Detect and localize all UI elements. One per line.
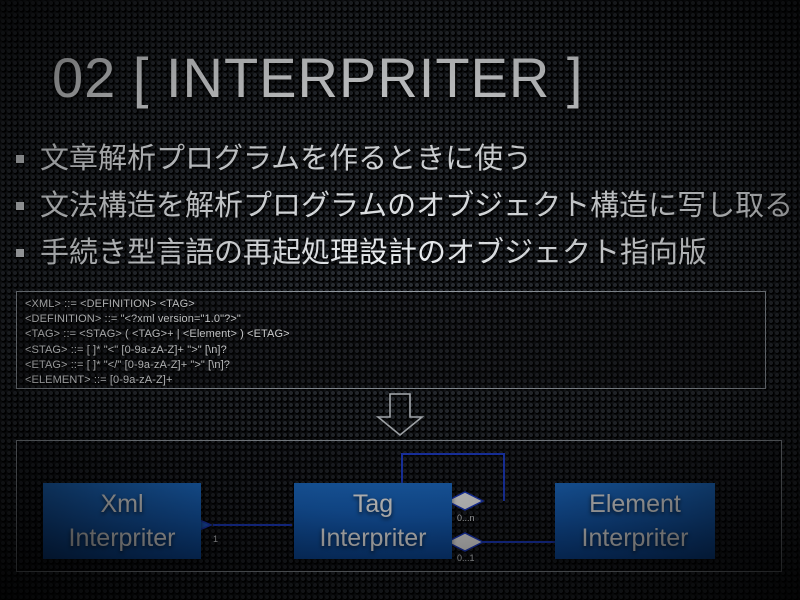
grammar-line: <STAG> ::= [ ]* "<" [0-9a-zA-Z]+ ">" [\n…: [25, 343, 757, 358]
list-item: 手続き型言語の再起処理設計のオブジェクト指向版: [16, 234, 791, 281]
list-item-label: 文章解析プログラムを作るときに使う: [40, 140, 532, 178]
grammar-code-block: <XML> ::= <DEFINITION> <TAG> <DEFINITION…: [16, 291, 766, 389]
multiplicity-label-xml: 1: [213, 534, 218, 544]
tag-element-diamond-icon: [447, 533, 483, 551]
square-bullet-icon: [16, 155, 24, 163]
uml-box-element[interactable]: Element Interpriter: [555, 483, 715, 559]
square-bullet-icon: [16, 202, 24, 210]
multiplicity-label-tag-self: 0...n: [457, 513, 475, 523]
bullet-list: 文章解析プログラムを作るときに使う 文法構造を解析プログラムのオブジェクト構造に…: [16, 140, 791, 281]
list-item-label: 手続き型言語の再起処理設計のオブジェクト指向版: [40, 234, 707, 272]
slide: 02 [ INTERPRITER ] 文章解析プログラムを作るときに使う 文法構…: [0, 0, 800, 600]
grammar-line: <ELEMENT> ::= [0-9a-zA-Z]+: [25, 373, 757, 388]
uml-box-tag-line2: Interpriter: [320, 521, 427, 555]
uml-box-xml[interactable]: Xml Interpriter: [43, 483, 201, 559]
uml-box-element-line2: Interpriter: [582, 521, 689, 555]
grammar-line: <XML> ::= <DEFINITION> <TAG>: [25, 297, 757, 312]
down-block-arrow-icon: [365, 393, 435, 437]
list-item-label: 文法構造を解析プログラムのオブジェクト構造に写し取る: [40, 187, 793, 225]
grammar-line: <TAG> ::= <STAG> ( <TAG>+ | <Element> ) …: [25, 327, 757, 342]
multiplicity-label-tag-element: 0...1: [457, 553, 475, 563]
list-item: 文法構造を解析プログラムのオブジェクト構造に写し取る: [16, 187, 791, 234]
uml-box-xml-line2: Interpriter: [69, 521, 176, 555]
grammar-line: <ETAG> ::= [ ]* "</" [0-9a-zA-Z]+ ">" [\…: [25, 358, 757, 373]
class-diagram: Xml Interpriter Tag Interpriter Element …: [16, 440, 782, 572]
page-title: 02 [ INTERPRITER ]: [52, 50, 583, 106]
uml-box-tag[interactable]: Tag Interpriter: [294, 483, 452, 559]
list-item: 文章解析プログラムを作るときに使う: [16, 140, 791, 187]
grammar-line: <DEFINITION> ::= "<?xml version="1.0"?>": [25, 312, 757, 327]
square-bullet-icon: [16, 249, 24, 257]
uml-box-xml-line1: Xml: [100, 487, 143, 521]
uml-box-tag-line1: Tag: [353, 487, 393, 521]
tag-self-diamond-icon: [447, 492, 483, 510]
uml-box-element-line1: Element: [589, 487, 681, 521]
